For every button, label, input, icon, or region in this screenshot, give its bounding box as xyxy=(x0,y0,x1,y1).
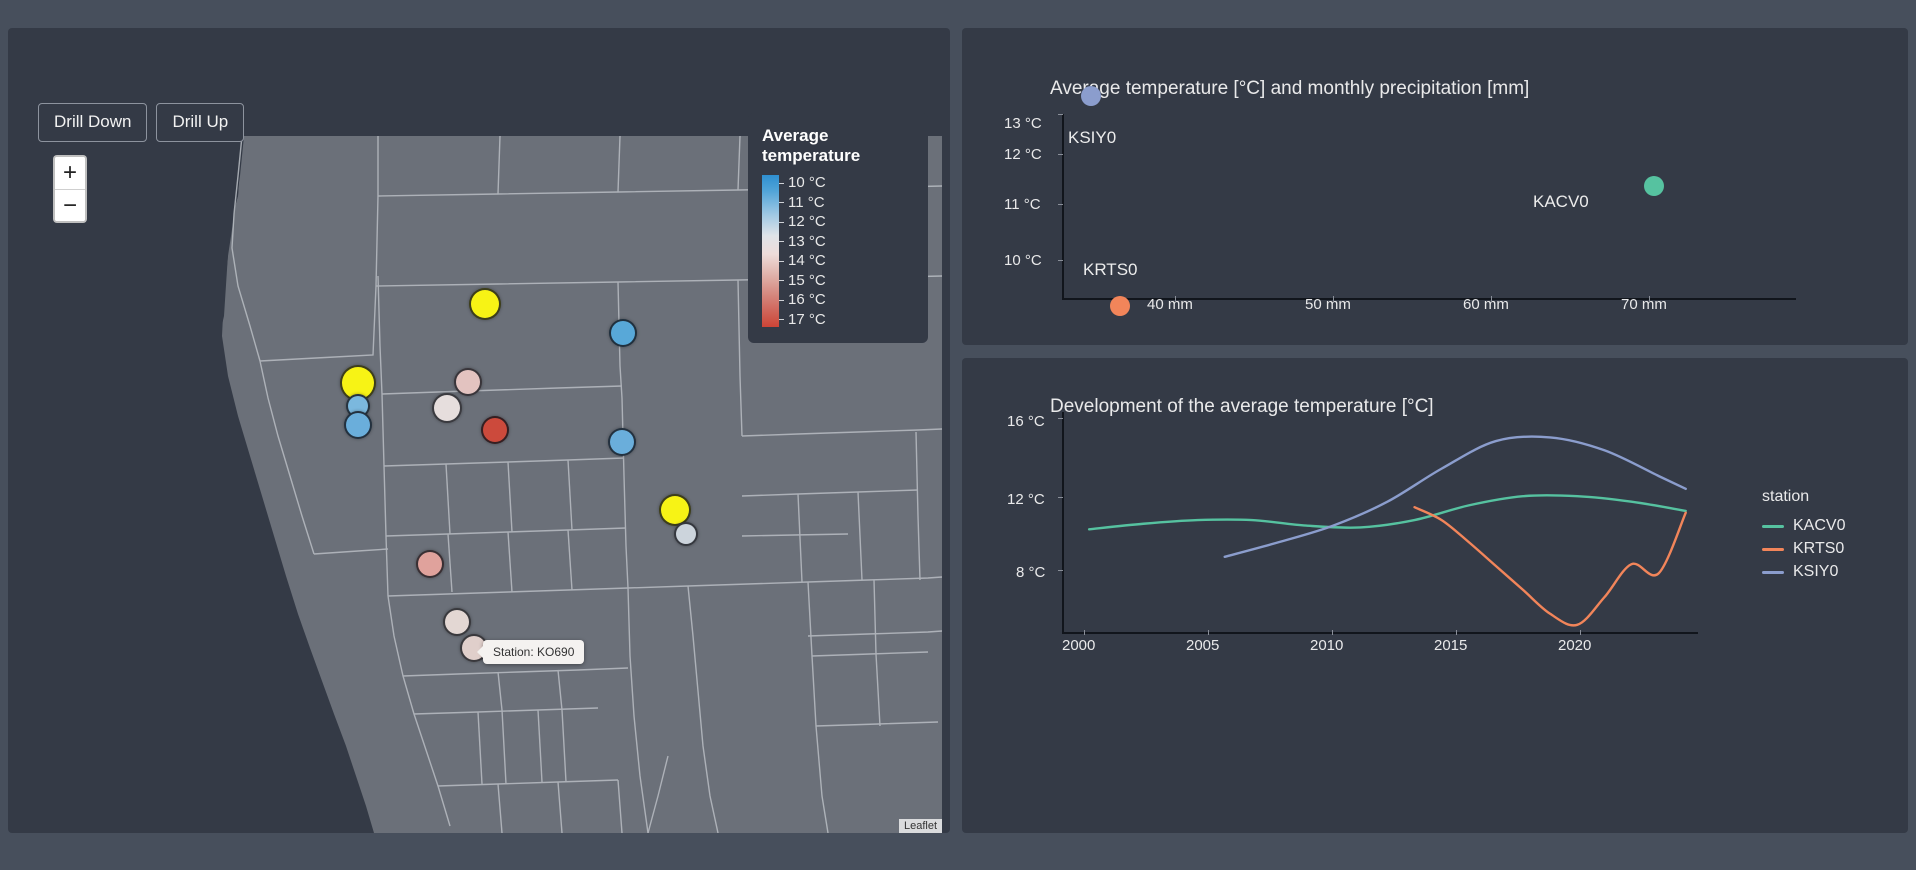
scatter-x-tick: 70 mm xyxy=(1621,296,1667,313)
line-x-tick: 2020 xyxy=(1558,637,1591,654)
map-marker-station[interactable] xyxy=(416,550,444,578)
map-marker-station[interactable] xyxy=(469,288,501,320)
map-marker-station[interactable] xyxy=(454,368,482,396)
legend-swatch-ksiy0 xyxy=(1762,571,1784,574)
scatter-chart-title: Average temperature [°C] and monthly pre… xyxy=(1050,78,1529,100)
scatter-y-tick: 10 °C xyxy=(1004,252,1042,269)
legend-tick: 12 °C xyxy=(779,214,826,229)
drill-button-group: Drill Down Drill Up xyxy=(38,103,244,142)
map-marker-station[interactable] xyxy=(608,428,636,456)
line-x-tick: 2010 xyxy=(1310,637,1343,654)
legend-body: 10 °C 11 °C 12 °C 13 °C 14 °C 15 °C 16 °… xyxy=(762,175,914,327)
scatter-y-tick-mark xyxy=(1058,260,1063,261)
scatter-point-ksiy0[interactable] xyxy=(1081,86,1101,106)
line-chart-panel: Development of the average temperature [… xyxy=(962,358,1908,833)
legend-gradient-bar xyxy=(762,175,779,327)
legend-label-ksiy0: KSIY0 xyxy=(1793,563,1838,581)
legend-tick: 16 °C xyxy=(779,292,826,307)
scatter-point-krts0[interactable] xyxy=(1110,296,1130,316)
legend-item-ksiy0[interactable]: KSIY0 xyxy=(1762,563,1845,581)
scatter-y-tick-mark xyxy=(1058,204,1063,205)
legend-title: Average temperature xyxy=(762,126,914,166)
scatter-y-axis xyxy=(1062,114,1064,300)
legend-tick: 15 °C xyxy=(779,273,826,288)
legend-tick-labels: 10 °C 11 °C 12 °C 13 °C 14 °C 15 °C 16 °… xyxy=(779,175,826,327)
scatter-x-tick: 40 mm xyxy=(1147,296,1193,313)
legend-tick: 11 °C xyxy=(779,195,826,210)
map-marker-station[interactable] xyxy=(443,608,471,636)
scatter-y-tick: 12 °C xyxy=(1004,146,1042,163)
line-series-ksiy0 xyxy=(1225,437,1686,557)
zoom-in-button[interactable]: + xyxy=(55,157,85,189)
map-temperature-legend: Average temperature 10 °C 11 °C 12 °C 13… xyxy=(748,113,928,343)
legend-swatch-kacv0 xyxy=(1762,525,1784,528)
dashboard-root: Station: KO690 Leaflet Drill Down Drill … xyxy=(0,0,1916,870)
scatter-x-tick: 50 mm xyxy=(1305,296,1351,313)
map-zoom-controls: + − xyxy=(53,155,87,223)
map-marker-station[interactable] xyxy=(609,319,637,347)
legend-item-kacv0[interactable]: KACV0 xyxy=(1762,517,1845,535)
scatter-y-tick-mark xyxy=(1058,114,1063,115)
zoom-out-button[interactable]: − xyxy=(55,189,85,221)
leaflet-attribution[interactable]: Leaflet xyxy=(899,819,942,833)
scatter-point-label-krts0: KRTS0 xyxy=(1083,260,1138,280)
drill-up-button[interactable]: Drill Up xyxy=(156,103,244,142)
line-series-krts0 xyxy=(1415,507,1686,625)
map-marker-station[interactable] xyxy=(481,416,509,444)
scatter-y-tick-mark xyxy=(1058,154,1063,155)
scatter-point-label-ksiy0: KSIY0 xyxy=(1068,128,1116,148)
map-marker-station[interactable] xyxy=(432,393,462,423)
legend-tick: 13 °C xyxy=(779,234,826,249)
line-x-tick: 2005 xyxy=(1186,637,1219,654)
line-y-tick: 16 °C xyxy=(1007,413,1045,430)
line-y-tick: 8 °C xyxy=(1016,564,1045,581)
line-chart-plot-area xyxy=(1062,408,1702,634)
map-marker-station[interactable] xyxy=(674,522,698,546)
legend-item-krts0[interactable]: KRTS0 xyxy=(1762,540,1845,558)
scatter-x-tick: 60 mm xyxy=(1463,296,1509,313)
legend-swatch-krts0 xyxy=(1762,548,1784,551)
line-chart-legend: station KACV0 KRTS0 KSIY0 xyxy=(1762,488,1845,586)
scatter-y-tick: 11 °C xyxy=(1004,196,1041,213)
drill-down-button[interactable]: Drill Down xyxy=(38,103,147,142)
line-x-tick: 2000 xyxy=(1062,637,1095,654)
line-y-tick: 12 °C xyxy=(1007,491,1045,508)
scatter-chart-panel: Average temperature [°C] and monthly pre… xyxy=(962,28,1908,345)
legend-label-krts0: KRTS0 xyxy=(1793,540,1844,558)
scatter-point-kacv0[interactable] xyxy=(1644,176,1664,196)
map-panel: Station: KO690 Leaflet Drill Down Drill … xyxy=(8,28,950,833)
scatter-point-label-kacv0: KACV0 xyxy=(1533,192,1589,212)
legend-tick: 17 °C xyxy=(779,312,826,327)
scatter-y-tick: 13 °C xyxy=(1004,115,1042,132)
legend-tick: 10 °C xyxy=(779,175,826,190)
legend-label-kacv0: KACV0 xyxy=(1793,517,1845,535)
legend-tick: 14 °C xyxy=(779,253,826,268)
legend-title-station: station xyxy=(1762,488,1845,506)
map-tooltip: Station: KO690 xyxy=(483,640,584,664)
map-marker-station[interactable] xyxy=(344,411,372,439)
line-x-tick: 2015 xyxy=(1434,637,1467,654)
